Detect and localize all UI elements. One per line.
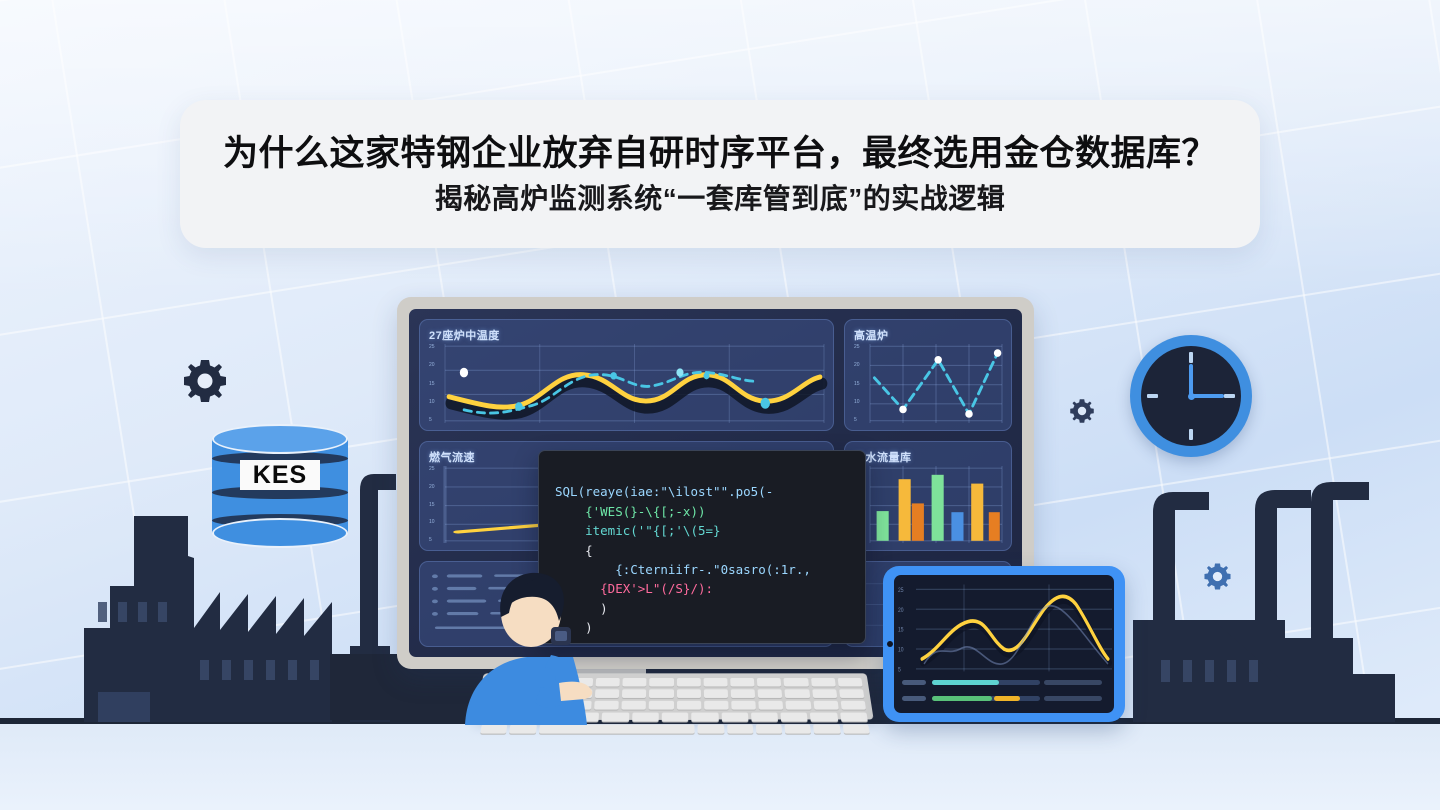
tablet-device[interactable]: 2520 15105 [883, 566, 1125, 722]
plot-area [870, 466, 1002, 543]
title-card: 为什么这家特钢企业放弃自研时序平台，最终选用金仓数据库？ 揭秘高炉监测系统“一套… [180, 100, 1260, 248]
svg-text:5: 5 [898, 667, 901, 674]
bar [899, 479, 911, 541]
data-point [934, 356, 941, 364]
y-axis-labels: 25 20 15 10 5 [854, 344, 867, 423]
person-hand [559, 682, 592, 701]
keyboard-key[interactable] [721, 713, 748, 722]
y-tick: 15 [854, 381, 867, 387]
keyboard-key[interactable] [731, 701, 756, 710]
bar [877, 511, 889, 541]
keyboard-key[interactable] [786, 701, 811, 710]
keyboard-key[interactable] [837, 678, 862, 686]
panel-furnace-pressure[interactable]: 高温炉 25 20 15 10 5 [844, 319, 1012, 431]
keyboard-key[interactable] [813, 701, 838, 710]
keyboard-key[interactable] [704, 689, 728, 698]
panel-title: 27座炉中温度 [429, 327, 824, 343]
keyboard-key[interactable] [784, 678, 809, 686]
keyboard-key[interactable] [480, 725, 507, 734]
data-point [761, 398, 770, 409]
data-point [965, 410, 972, 418]
factory-silhouette-right [1105, 478, 1440, 722]
tablet-label-3 [902, 696, 926, 701]
keyboard-key[interactable] [785, 689, 810, 698]
keyboard-key[interactable] [698, 725, 724, 734]
panel-cooling-water[interactable]: 冷水流量库 25 20 15 10 5 [844, 441, 1012, 551]
panel-chart-area: 25 20 15 10 5 [854, 466, 1002, 543]
keyboard-key[interactable] [731, 689, 756, 698]
db-top-ring [212, 424, 348, 454]
data-point [703, 372, 709, 379]
bar [989, 512, 1000, 541]
plot-area [445, 344, 824, 423]
y-tick: 10 [854, 399, 867, 405]
keyboard-key[interactable] [730, 678, 754, 686]
poster-canvas: KES 27座炉中温度 25 20 15 10 5 [0, 0, 1440, 810]
keyboard-key[interactable] [509, 725, 536, 734]
panel-chart-area: 25 20 15 10 5 [854, 344, 1002, 423]
y-tick: 20 [854, 362, 867, 368]
clock-tick-6 [1189, 429, 1193, 440]
code-line: {'WES(}-\{[;-x)) [555, 504, 706, 519]
clock-tick-3 [1224, 394, 1235, 398]
keyboard-key[interactable] [842, 725, 869, 734]
clock-tick-9 [1147, 394, 1158, 398]
pressure-line-chart [870, 344, 1002, 423]
temperature-line-chart [445, 344, 824, 423]
gear-icon-center-right [1068, 397, 1096, 425]
keyboard-key[interactable] [727, 725, 753, 734]
y-axis-labels: 25 20 15 10 5 [429, 466, 442, 543]
keyboard-key[interactable] [650, 678, 674, 686]
plot-area [870, 344, 1002, 423]
kes-database-cylinder: KES [212, 424, 348, 548]
wall-clock [1130, 335, 1252, 457]
keyboard-key[interactable] [704, 701, 729, 710]
tablet-y-axis-labels: 2520 15105 [898, 587, 904, 673]
y-tick: 5 [429, 417, 442, 423]
code-line: SQL(reaye(iae:"\ilost"".po5(- [555, 484, 773, 499]
keyboard-key[interactable] [756, 725, 783, 734]
clock-face [1141, 346, 1241, 446]
data-point [610, 372, 616, 379]
y-axis-labels: 25 20 15 10 5 [429, 344, 442, 423]
keyboard-key[interactable] [703, 678, 727, 686]
tablet-camera-icon [887, 641, 893, 647]
clock-hand-minute [1189, 364, 1193, 396]
y-tick: 5 [854, 417, 867, 423]
keyboard-key[interactable] [649, 701, 673, 710]
keyboard-key[interactable] [691, 713, 718, 722]
db-bottom-ring [212, 518, 348, 548]
keyboard-key[interactable] [758, 689, 783, 698]
progress-amber[interactable] [994, 696, 1020, 701]
bar [932, 475, 944, 541]
keyboard-key[interactable] [759, 701, 784, 710]
keyboard-key[interactable] [677, 678, 701, 686]
data-point [515, 402, 523, 411]
data-point [460, 368, 468, 378]
keyboard-key[interactable] [751, 713, 778, 722]
gear-icon-left [180, 356, 230, 406]
page-title: 为什么这家特钢企业放弃自研时序平台，最终选用金仓数据库？ [223, 136, 1217, 171]
keyboard-key[interactable] [813, 725, 840, 734]
y-tick: 15 [429, 381, 442, 387]
page-subtitle: 揭秘高炉监测系统“一套库管到底”的实战逻辑 [435, 185, 1006, 213]
keyboard-key[interactable] [839, 689, 864, 698]
svg-text:10: 10 [898, 647, 904, 654]
keyboard-key[interactable] [785, 725, 812, 734]
tablet-screen: 2520 15105 [894, 575, 1114, 713]
bars [877, 475, 1000, 541]
keyboard-key[interactable] [840, 713, 868, 722]
keyboard-key[interactable] [677, 701, 701, 710]
floor-surface [0, 724, 1440, 810]
bar [912, 503, 924, 540]
y-tick: 15 [429, 502, 442, 508]
svg-text:25: 25 [898, 587, 904, 594]
y-tick: 25 [854, 344, 867, 350]
panel-blast-furnace-temperature[interactable]: 27座炉中温度 25 20 15 10 5 [419, 319, 834, 431]
bar [971, 484, 983, 541]
progress-green[interactable] [932, 696, 992, 701]
tablet-label-4 [1044, 696, 1102, 701]
clock-tick-12 [1189, 352, 1193, 363]
keyboard-key[interactable] [662, 713, 689, 722]
person-headset-pad [555, 631, 567, 641]
y-tick: 5 [429, 537, 442, 543]
keyboard-key[interactable] [539, 725, 695, 734]
panel-title: 高温炉 [854, 327, 1002, 343]
svg-text:15: 15 [898, 627, 904, 634]
engineer-at-desk [455, 565, 645, 725]
data-point [994, 349, 1001, 357]
svg-text:20: 20 [898, 607, 904, 614]
keyboard-key[interactable] [812, 689, 837, 698]
keyboard-key[interactable] [810, 713, 838, 722]
keyboard-key[interactable] [840, 701, 866, 710]
panel-title: 冷水流量库 [854, 449, 1002, 465]
tablet-label-1 [902, 680, 926, 685]
keyboard-key[interactable] [780, 713, 808, 722]
y-tick: 10 [429, 399, 442, 405]
progress-cyan[interactable] [932, 680, 999, 685]
y-tick: 20 [429, 362, 442, 368]
bar [951, 512, 963, 541]
keyboard-key[interactable] [811, 678, 836, 686]
cooling-water-bar-chart [870, 466, 1002, 543]
code-line: itemic('"{[;'\(5=} [555, 523, 721, 538]
y-tick: 25 [429, 344, 442, 350]
data-point [899, 406, 906, 414]
kes-label: KES [240, 460, 320, 490]
tablet-trend-chart: 2520 15105 [894, 577, 1114, 676]
y-tick: 25 [429, 466, 442, 472]
code-line: { [555, 543, 593, 558]
keyboard-key[interactable] [649, 689, 673, 698]
clock-center-pin [1188, 393, 1195, 400]
y-tick: 10 [429, 519, 442, 525]
gear-icon-bottom-right [1202, 561, 1233, 592]
y-tick: 20 [429, 484, 442, 490]
keyboard-key[interactable] [677, 689, 701, 698]
keyboard-row [480, 725, 869, 734]
keyboard-key[interactable] [757, 678, 782, 686]
clock-hand-hour [1191, 394, 1224, 398]
panel-chart-area: 25 20 15 10 5 [429, 344, 824, 423]
tablet-label-2 [1044, 680, 1102, 685]
data-point [676, 368, 683, 376]
